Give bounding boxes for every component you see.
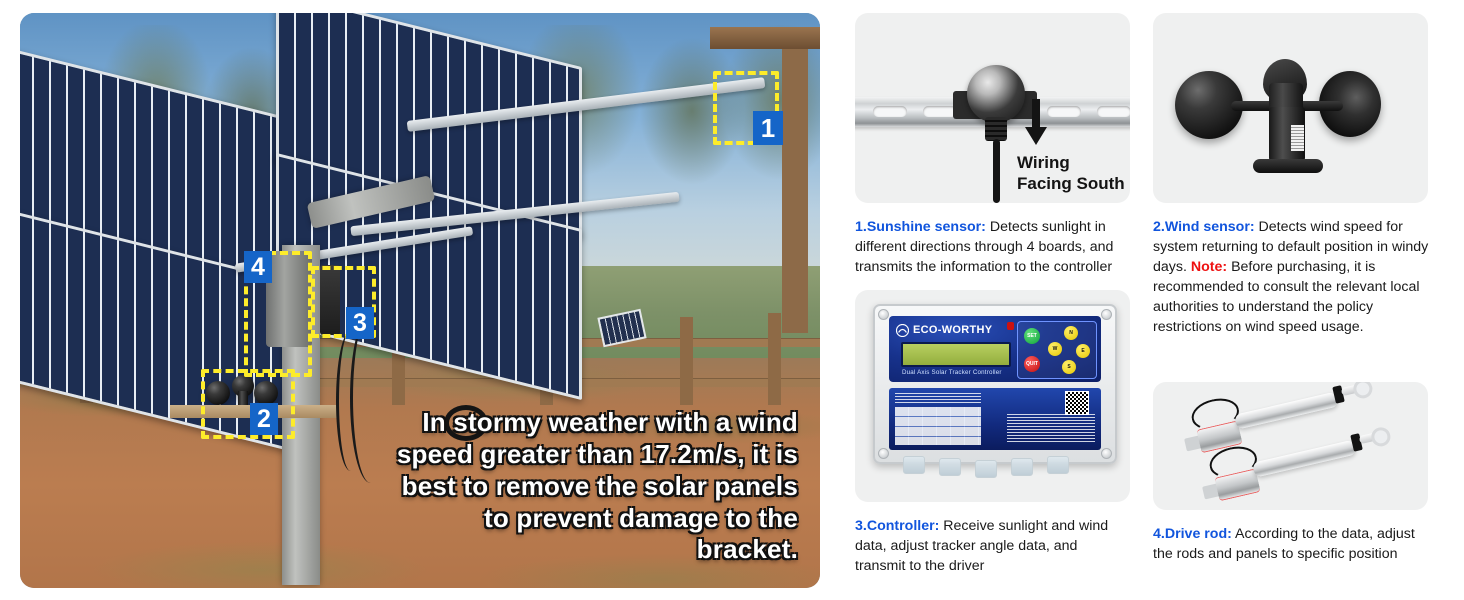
fence-post xyxy=(768,313,781,405)
card-title: Wind sensor: xyxy=(1165,219,1255,235)
callout-badge-1[interactable]: 1 xyxy=(753,111,783,145)
brand-logo-icon xyxy=(896,324,909,337)
screw-hole xyxy=(878,309,889,320)
controller-info-label xyxy=(889,388,1101,450)
lcd-display xyxy=(901,342,1011,367)
infographic-root: 1 4 3 2 In stormy weather with a wind sp… xyxy=(0,0,1464,600)
controller-description: 3.Controller: Receive sunlight and wind … xyxy=(855,516,1130,576)
pergola-beam xyxy=(710,27,820,49)
cable-gland xyxy=(1047,456,1069,474)
din-rail-slot xyxy=(1097,106,1130,117)
callout-badge-3[interactable]: 3 xyxy=(346,307,374,339)
drive-rod-description: 4.Drive rod: According to the data, adju… xyxy=(1153,524,1438,564)
card-title: Drive rod: xyxy=(1165,526,1232,542)
north-button[interactable]: N xyxy=(1064,326,1078,340)
controller-brand: ECO-WORTHY xyxy=(913,324,992,336)
wind-sensor-description: 2.Wind sensor: Detects wind speed for sy… xyxy=(1153,217,1443,337)
card-number: 1. xyxy=(855,219,867,235)
quit-button[interactable]: QUIT xyxy=(1024,356,1040,372)
card-title: Controller: xyxy=(867,518,940,534)
actuator-tube xyxy=(1252,440,1357,478)
power-led xyxy=(1007,322,1014,330)
card-number: 4. xyxy=(1153,526,1165,542)
card-sunshine-sensor: Wiring Facing South 1.Sunshine sensor: D… xyxy=(855,13,1130,283)
note-label: Note: xyxy=(1191,259,1227,275)
drive-rod-image xyxy=(1153,382,1428,510)
wiring-direction-label: Wiring Facing South xyxy=(1017,153,1125,194)
west-button[interactable]: W xyxy=(1048,342,1062,356)
card-number: 2. xyxy=(1153,219,1165,235)
screw-hole xyxy=(1101,309,1112,320)
hero-caption: In stormy weather with a wind speed grea… xyxy=(386,407,798,566)
card-drive-rod: 4.Drive rod: According to the data, adju… xyxy=(1153,382,1443,587)
controller-enclosure: ECO-WORTHY Dual Axis Solar Tracker Contr… xyxy=(873,304,1117,464)
card-number: 3. xyxy=(855,518,867,534)
actuator-eyelet xyxy=(1351,382,1374,400)
wiring-label-line2: Facing South xyxy=(1017,174,1125,195)
screw-hole xyxy=(1101,448,1112,459)
din-rail-slot xyxy=(1047,106,1081,117)
controller-keypad: SET QUIT N W E S xyxy=(1017,321,1097,379)
callout-badge-4[interactable]: 4 xyxy=(244,251,272,283)
controller-subtitle: Dual Axis Solar Tracker Controller xyxy=(902,369,1002,376)
sensor-cable xyxy=(993,139,1000,203)
sunshine-sensor-dome xyxy=(967,65,1025,123)
card-controller: ECO-WORTHY Dual Axis Solar Tracker Contr… xyxy=(855,290,1130,585)
sunshine-sensor-description: 1.Sunshine sensor: Detects sunlight in d… xyxy=(855,217,1130,277)
anemometer-mounting-base xyxy=(1253,159,1323,173)
cable-gland xyxy=(1011,458,1033,476)
callout-badge-2[interactable]: 2 xyxy=(250,403,278,435)
sunshine-sensor-image: Wiring Facing South xyxy=(855,13,1130,203)
din-rail-slot xyxy=(923,106,957,117)
din-rail-slot xyxy=(873,106,907,117)
controller-image: ECO-WORTHY Dual Axis Solar Tracker Contr… xyxy=(855,290,1130,502)
hero-photo: 1 4 3 2 In stormy weather with a wind sp… xyxy=(20,13,820,588)
east-button[interactable]: E xyxy=(1076,344,1090,358)
actuator-eyelet xyxy=(1369,425,1392,448)
card-wind-sensor: 2.Wind sensor: Detects wind speed for sy… xyxy=(1153,13,1443,373)
wind-sensor-image xyxy=(1153,13,1428,203)
qr-code xyxy=(1065,391,1089,415)
cable-gland xyxy=(939,458,961,476)
label-heading-text xyxy=(895,393,981,404)
callout-box-2 xyxy=(201,369,295,439)
pergola-post xyxy=(782,33,808,333)
cable-gland xyxy=(903,456,925,474)
label-spec-table xyxy=(895,407,981,445)
south-button[interactable]: S xyxy=(1062,360,1076,374)
label-note-text xyxy=(1007,414,1095,442)
anemometer-sticker xyxy=(1291,125,1304,151)
controller-front-panel: ECO-WORTHY Dual Axis Solar Tracker Contr… xyxy=(889,316,1101,382)
cable-gland xyxy=(975,460,997,478)
wiring-label-line1: Wiring xyxy=(1017,153,1125,174)
set-button[interactable]: SET xyxy=(1024,328,1040,344)
arrow-down-icon xyxy=(1023,99,1049,147)
card-title: Sunshine sensor: xyxy=(867,219,986,235)
screw-hole xyxy=(878,448,889,459)
cable-gland xyxy=(985,117,1007,141)
